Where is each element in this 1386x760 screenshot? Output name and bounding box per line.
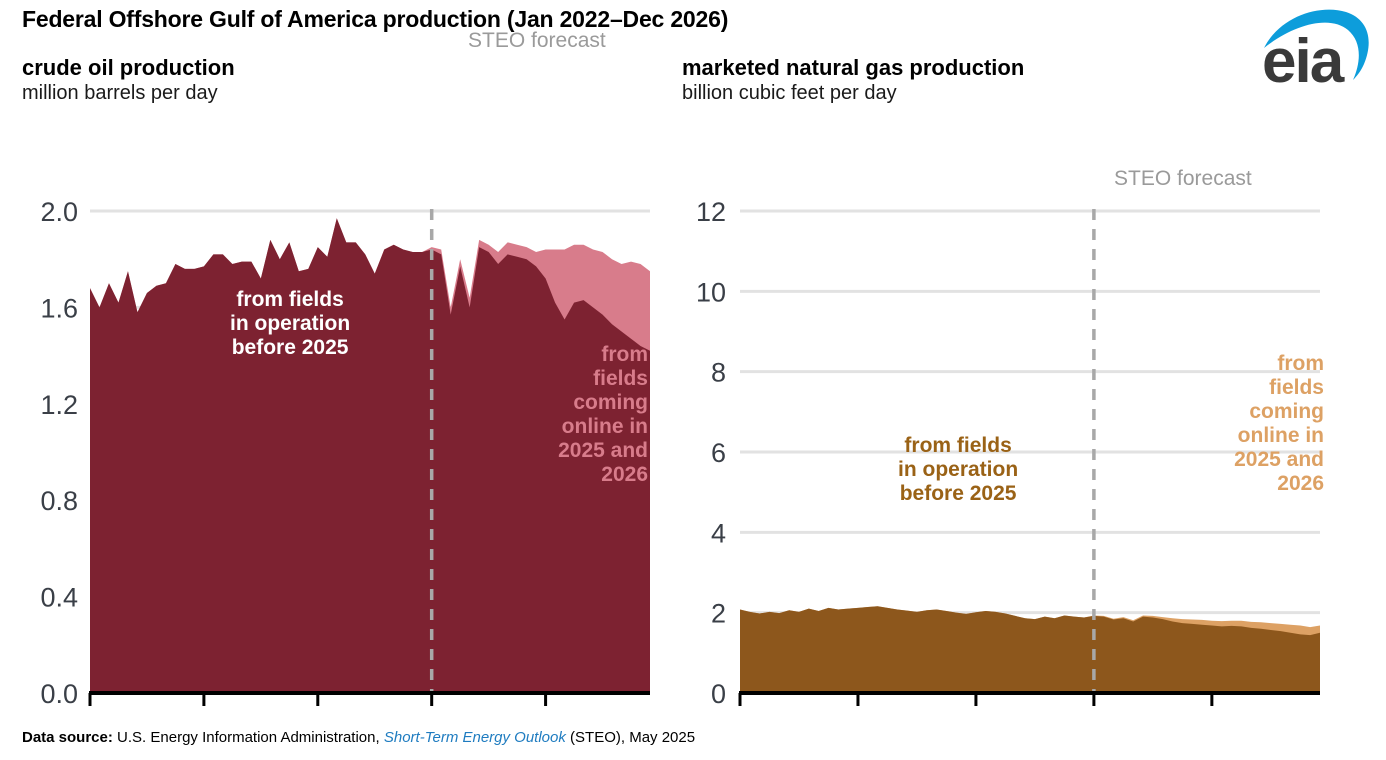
annotation-right-existing: from fields in operation before 2025 xyxy=(898,434,1018,506)
data-source-footer: Data source: U.S. Energy Information Adm… xyxy=(22,729,695,746)
y-axis-tick-label: 6 xyxy=(711,438,726,468)
panel-left-units: million barrels per day xyxy=(22,82,672,106)
steo-link[interactable]: Short-Term Energy Outlook xyxy=(384,729,566,746)
data-source-agency: U.S. Energy Information Administration, xyxy=(117,729,384,746)
page-title: Federal Offshore Gulf of America product… xyxy=(22,6,728,33)
y-axis-tick-label: 0.8 xyxy=(40,486,78,516)
steo-forecast-label-left: STEO forecast xyxy=(468,28,606,54)
y-axis-tick-label: 1.6 xyxy=(40,293,78,323)
y-axis-tick-label: 4 xyxy=(711,518,726,548)
y-axis-tick-label: 1.2 xyxy=(40,390,78,420)
y-axis-tick-label: 10 xyxy=(696,277,726,307)
y-axis-tick-label: 8 xyxy=(711,358,726,388)
panel-left-title: crude oil production xyxy=(22,56,672,81)
panel-natural-gas: marketed natural gas production billion … xyxy=(682,56,1342,105)
chart-page: Federal Offshore Gulf of America product… xyxy=(0,0,1386,760)
area-series-existing-fields xyxy=(740,606,1320,693)
y-axis-tick-label: 0.0 xyxy=(40,679,78,709)
y-axis-tick-label: 0.4 xyxy=(40,583,78,613)
y-axis-tick-label: 12 xyxy=(696,197,726,227)
panel-crude-oil: crude oil production million barrels per… xyxy=(22,56,672,105)
steo-forecast-label-right: STEO forecast xyxy=(1114,166,1252,192)
y-axis-tick-label: 2.0 xyxy=(40,197,78,227)
data-source-label: Data source: xyxy=(22,729,117,746)
panel-right-title: marketed natural gas production xyxy=(682,56,1342,81)
panel-right-units: billion cubic feet per day xyxy=(682,82,1342,106)
annotation-left-existing: from fields in operation before 2025 xyxy=(230,288,350,360)
y-axis-tick-label: 2 xyxy=(711,599,726,629)
y-axis-tick-label: 0 xyxy=(711,679,726,709)
annotation-left-new: from fields coming online in 2025 and 20… xyxy=(548,343,648,487)
annotation-right-new: from fields coming online in 2025 and 20… xyxy=(1212,352,1324,496)
data-source-suffix: (STEO), May 2025 xyxy=(566,729,695,746)
